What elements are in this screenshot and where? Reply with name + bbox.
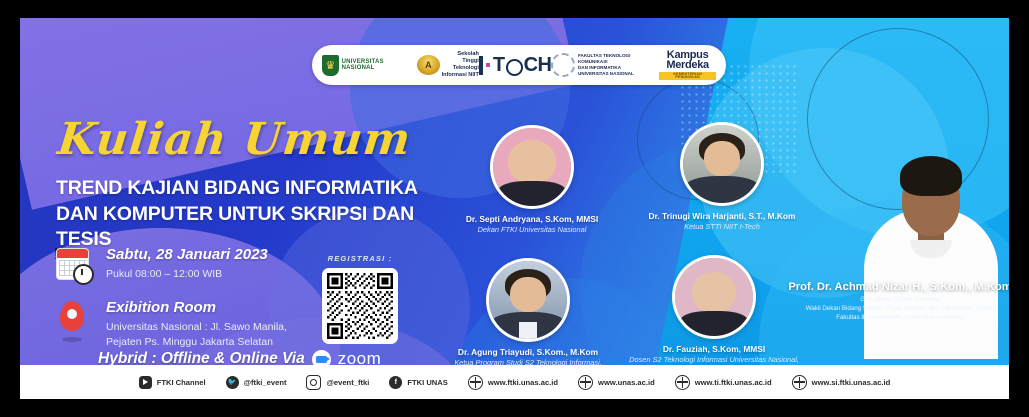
ftki-logo-text: FAKULTAS TEKNOLOGI KOMUNIKASI DAN INFORM… [578, 53, 659, 77]
calendar-icon: ! [54, 246, 94, 288]
footer-item-instagram[interactable]: @event_ftki [306, 375, 369, 390]
footer-bar: FTKI Channel 🐦 @ftki_event @event_ftki f… [20, 365, 1009, 399]
logo-kampus-merdeka: Kampus Merdeka KEMENTERIAN PENDIDIKAN [659, 50, 716, 81]
footer-item-web-ti[interactable]: www.ti.ftki.unas.ac.id [675, 375, 772, 390]
footer-item-facebook[interactable]: f FTKI UNAS [389, 376, 448, 389]
facebook-icon: f [389, 376, 402, 389]
footer-item-web-si[interactable]: www.si.ftki.unas.ac.id [792, 375, 891, 390]
logo-itech: T CH [479, 54, 552, 77]
event-location-row: Exibition Room Universitas Nasional : Jl… [54, 299, 287, 350]
qr-code-image [327, 273, 393, 339]
headline-line-1: TREND KAJIAN BIDANG INFORMATIKA [56, 176, 456, 202]
registration-label: REGISTRASI : [314, 254, 406, 263]
footer-label-web-si: www.si.ftki.unas.ac.id [812, 378, 891, 387]
footer-label-twitter: @ftki_event [244, 378, 287, 387]
globe-icon [675, 375, 690, 390]
footer-label-web-ti: www.ti.ftki.unas.ac.id [695, 378, 772, 387]
clock-icon [73, 264, 94, 285]
event-date-row: ! Sabtu, 28 Januari 2023 Pukul 08:00 – 1… [54, 246, 268, 288]
event-date: Sabtu, 28 Januari 2023 [106, 246, 268, 265]
speaker-photo-1 [490, 125, 574, 209]
itech-dot-icon [486, 63, 490, 67]
footer-label-instagram: @event_ftki [326, 378, 369, 387]
speaker-name-3: Dr. Agung Triayudi, S.Kom., M.Kom [435, 347, 621, 358]
footer-item-web-ftki[interactable]: www.ftki.unas.ac.id [468, 375, 558, 390]
kampus-ribbon: KEMENTERIAN PENDIDIKAN [659, 72, 716, 81]
itech-letters-ch: CH [524, 54, 552, 77]
speaker-name-2: Dr. Trinugi Wira Harjanti, S.T., M.Kom [629, 211, 815, 222]
unas-logo-text: UNIVERSITAS NASIONAL [342, 59, 417, 72]
script-title: Kuliah Umum [55, 114, 413, 165]
venue-name: Exibition Room [106, 299, 287, 318]
globe-icon [578, 375, 593, 390]
keynote-hair [900, 156, 962, 196]
speaker-name-4: Dr. Fauziah, S.Kom, MMSI [621, 344, 807, 355]
speaker-name-1: Dr. Septi Andryana, S.Kom, MMSI [439, 214, 625, 225]
qr-code[interactable] [322, 268, 398, 344]
itech-letter-t: T [493, 54, 505, 77]
speaker-photo-4 [672, 255, 756, 339]
logo-stti-niit: Sekolah Tinggi Teknologi Informasi NIIT [440, 51, 479, 79]
banner-canvas: ♛ UNIVERSITAS NASIONAL A Sekolah Tinggi … [20, 18, 1009, 399]
page-title: TREND KAJIAN BIDANG INFORMATIKA DAN KOMP… [56, 176, 456, 253]
logo-ftki: FAKULTAS TEKNOLOGI KOMUNIKASI DAN INFORM… [551, 53, 659, 77]
gold-seal-icon: A [417, 55, 440, 75]
logo-universitas-nasional: ♛ UNIVERSITAS NASIONAL [322, 55, 417, 76]
speaker-card-1: Dr. Septi Andryana, S.Kom, MMSI Dekan FT… [439, 125, 625, 235]
footer-item-youtube[interactable]: FTKI Channel [139, 376, 206, 389]
footer-label-facebook: FTKI UNAS [407, 378, 448, 387]
itech-circle-icon [506, 59, 523, 76]
youtube-icon [139, 376, 152, 389]
speaker-card-2: Dr. Trinugi Wira Harjanti, S.T., M.Kom K… [629, 122, 815, 232]
keynote-name: Prof. Dr. Achmad Nizar H., S.Kom., M.Kom [780, 280, 1009, 294]
partner-logo-bar: ♛ UNIVERSITAS NASIONAL A Sekolah Tinggi … [312, 45, 726, 85]
location-pin-icon [54, 299, 94, 341]
footer-item-twitter[interactable]: 🐦 @ftki_event [226, 376, 287, 389]
keynote-role: Guru Besar Sistem Informasi Wakil Dekan … [780, 296, 1009, 322]
twitter-icon: 🐦 [226, 376, 239, 389]
instagram-icon [306, 375, 321, 390]
itech-bar-icon [479, 56, 483, 75]
gear-icon [551, 53, 575, 77]
banner-stage: ♛ UNIVERSITAS NASIONAL A Sekolah Tinggi … [0, 0, 1029, 417]
event-time: Pukul 08:00 – 12:00 WIB [106, 267, 268, 282]
venue-address: Universitas Nasional : Jl. Sawo Manila, … [106, 320, 287, 350]
unas-shield-icon: ♛ [322, 55, 339, 76]
footer-item-web-unas[interactable]: www.unas.ac.id [578, 375, 655, 390]
speaker-photo-3 [486, 258, 570, 342]
speaker-role-2: Ketua STTI NIIT I-Tech [629, 222, 815, 232]
speaker-card-3: Dr. Agung Triayudi, S.Kom., M.Kom Ketua … [435, 258, 621, 377]
globe-icon [792, 375, 807, 390]
footer-label-web-unas: www.unas.ac.id [598, 378, 655, 387]
speaker-role-1: Dekan FTKI Universitas Nasional [439, 225, 625, 235]
footer-label-youtube: FTKI Channel [157, 378, 206, 387]
speaker-photo-2 [680, 122, 764, 206]
keynote-caption: Prof. Dr. Achmad Nizar H., S.Kom., M.Kom… [780, 280, 1009, 322]
globe-icon [468, 375, 483, 390]
footer-label-web-ftki: www.ftki.unas.ac.id [488, 378, 558, 387]
registration-block: REGISTRASI : [314, 254, 406, 344]
